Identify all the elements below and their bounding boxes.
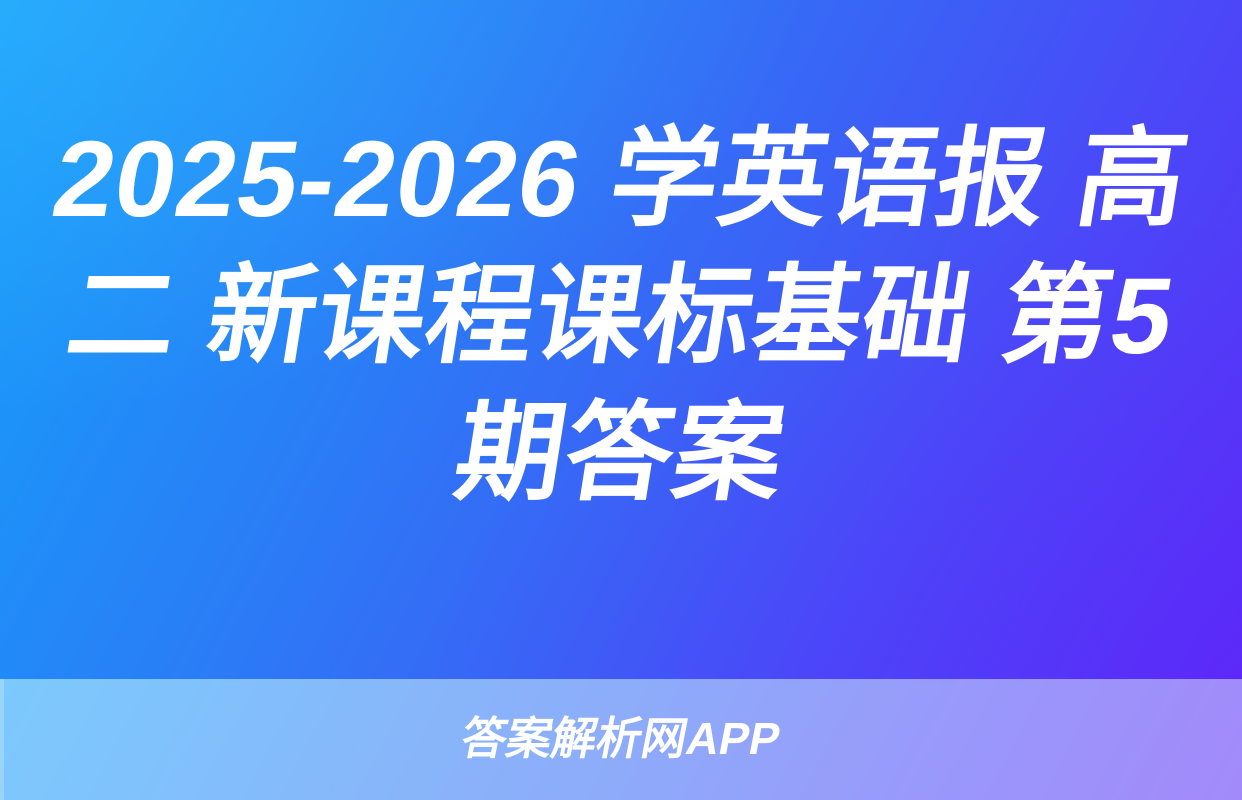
title-line-1: 2025-2026 学英语报 高 — [44, 110, 1198, 247]
title-line-3: 期答案 — [447, 384, 796, 521]
watermark-bar: 答案解析网APP — [0, 679, 1242, 800]
title-line-2: 二 新课程课标基础 第5 — [58, 247, 1184, 384]
poster-canvas: 2025-2026 学英语报 高 二 新课程课标基础 第5 期答案 答案解析网A… — [0, 0, 1242, 800]
app-watermark-label: 答案解析网APP — [458, 716, 785, 763]
poster-title-block: 2025-2026 学英语报 高 二 新课程课标基础 第5 期答案 — [0, 0, 1242, 679]
